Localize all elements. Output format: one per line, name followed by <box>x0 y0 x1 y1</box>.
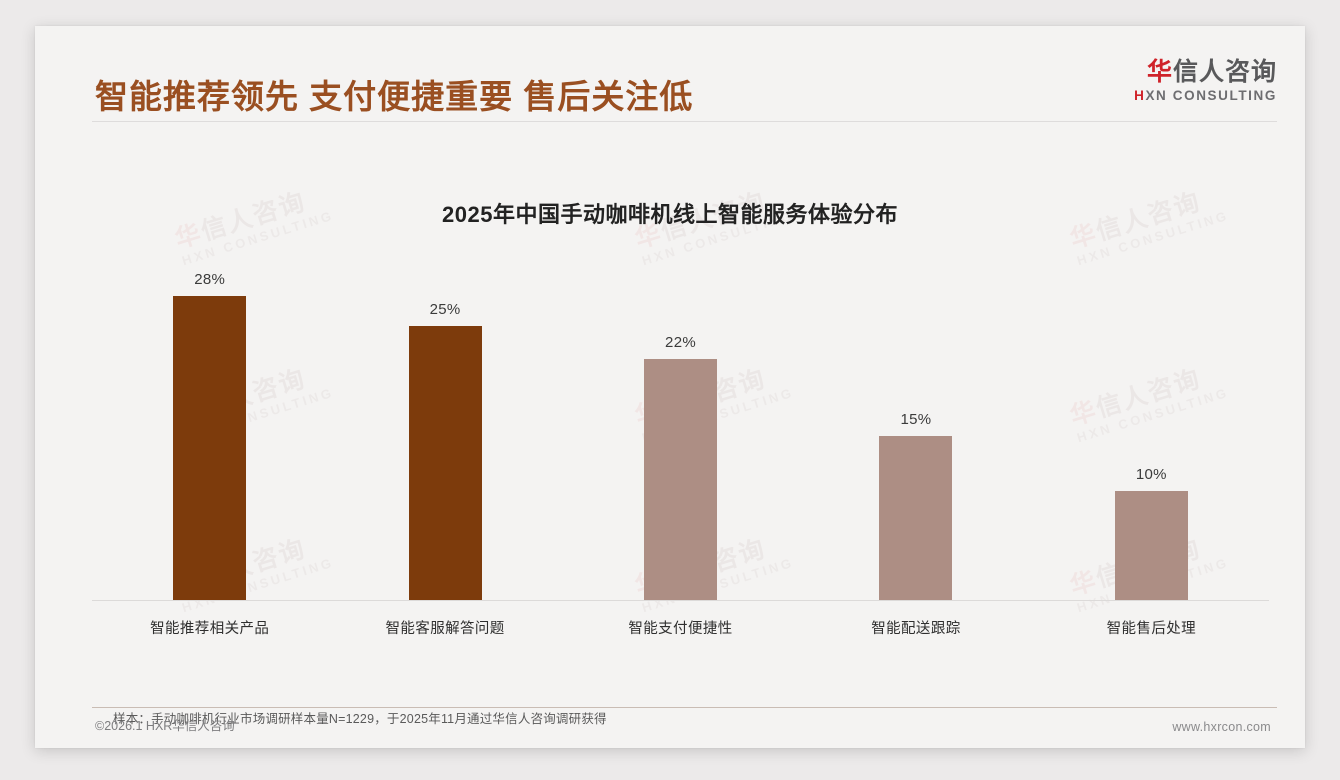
footer-copyright: ©2026.1 HXR华信人咨询 <box>95 715 235 734</box>
bar-value-label: 10% <box>1136 466 1167 483</box>
bar-group: 25%智能客服解答问题 <box>327 271 562 601</box>
bar-value-label: 25% <box>430 301 461 318</box>
footer-url: www.hxrcon.com <box>1172 720 1271 734</box>
bar-category-label: 智能支付便捷性 <box>628 617 732 638</box>
bar-value-label: 28% <box>194 271 225 288</box>
x-axis-line <box>92 600 1269 601</box>
bar-group: 10%智能售后处理 <box>1034 271 1269 601</box>
bar-group: 28%智能推荐相关产品 <box>92 271 327 601</box>
logo-en-red: H <box>1134 88 1145 103</box>
bar <box>173 296 246 601</box>
bar-series: 28%智能推荐相关产品25%智能客服解答问题22%智能支付便捷性15%智能配送跟… <box>92 271 1269 601</box>
bar <box>879 436 952 601</box>
bar <box>409 326 482 601</box>
company-logo: 华信人咨询 HXN CONSULTING <box>1134 58 1277 103</box>
page-title: 智能推荐领先 支付便捷重要 售后关注低 <box>95 70 693 118</box>
logo-en-rest: XN CONSULTING <box>1145 88 1277 103</box>
slide-header: 智能推荐领先 支付便捷重要 售后关注低 华信人咨询 HXN CONSULTING <box>35 26 1305 121</box>
logo-cn-rest: 信人咨询 <box>1173 58 1277 86</box>
slide-card: 华信人咨询 HXN CONSULTING 华信人咨询 HXN CONSULTIN… <box>35 26 1305 748</box>
chart: 2025年中国手动咖啡机线上智能服务体验分布 28%智能推荐相关产品25%智能客… <box>35 121 1305 681</box>
bar <box>644 359 717 601</box>
header-divider <box>92 121 1277 122</box>
bar-category-label: 智能推荐相关产品 <box>150 617 269 638</box>
bar <box>1115 491 1188 601</box>
bar-value-label: 15% <box>900 411 931 428</box>
logo-cn-red: 华 <box>1147 58 1173 86</box>
footer-divider <box>92 707 1277 708</box>
bar-category-label: 智能售后处理 <box>1107 617 1196 638</box>
bar-group: 22%智能支付便捷性 <box>563 271 798 601</box>
chart-title: 2025年中国手动咖啡机线上智能服务体验分布 <box>35 197 1305 229</box>
bar-value-label: 22% <box>665 334 696 351</box>
bar-category-label: 智能客服解答问题 <box>386 617 505 638</box>
bar-group: 15%智能配送跟踪 <box>798 271 1033 601</box>
chart-plot-area: 28%智能推荐相关产品25%智能客服解答问题22%智能支付便捷性15%智能配送跟… <box>92 271 1269 601</box>
bar-category-label: 智能配送跟踪 <box>871 617 960 638</box>
